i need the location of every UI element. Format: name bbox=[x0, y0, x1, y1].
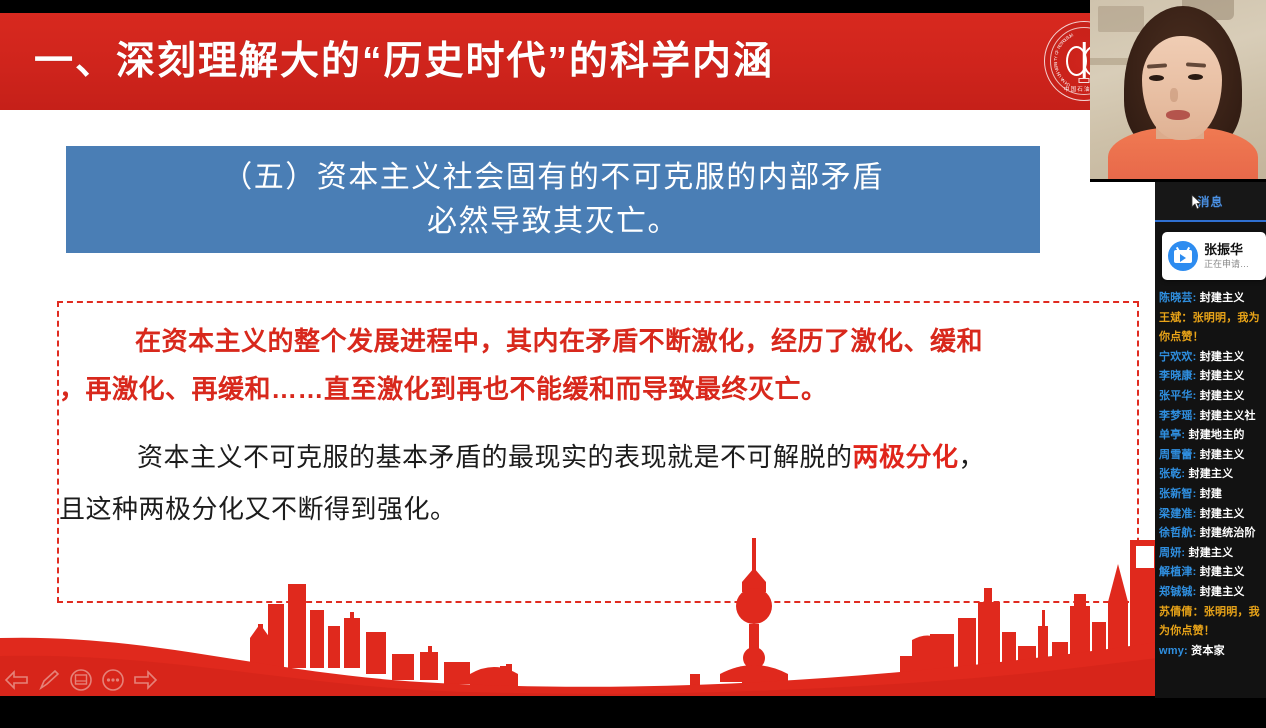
chat-message-author: 为你点赞！ bbox=[1159, 625, 1215, 637]
skyline-decoration bbox=[0, 506, 1158, 696]
chat-message-author: 你点赞！ bbox=[1159, 331, 1204, 343]
display-view-icon[interactable] bbox=[66, 666, 96, 694]
chat-message-text: 封建主义 bbox=[1185, 547, 1233, 559]
presenter-mouth bbox=[1166, 110, 1190, 120]
chat-message-author: 陈晓芸: bbox=[1159, 292, 1196, 304]
chat-message-text: 资本家 bbox=[1188, 645, 1225, 657]
presenter-nose bbox=[1170, 88, 1178, 102]
chat-message-author: 解植津: bbox=[1159, 566, 1196, 578]
chat-message: 宁欢欢: 封建主义 bbox=[1159, 348, 1262, 368]
chat-message: 李晓康: 封建主义 bbox=[1159, 367, 1262, 387]
chat-message: 郑铖铖: 封建主义 bbox=[1159, 583, 1262, 603]
more-options-icon[interactable] bbox=[98, 666, 128, 694]
chat-message-author: 梁建准: bbox=[1159, 508, 1196, 520]
chat-message: 张新智: 封建 bbox=[1159, 485, 1262, 505]
paragraph-one-line-1: 在资本主义的整个发展进程中，其内在矛盾不断激化，经历了激化、缓和 bbox=[59, 317, 1137, 365]
presenter-webcam-video[interactable] bbox=[1090, 0, 1266, 182]
notice-user-name: 张振华 bbox=[1204, 242, 1260, 258]
paragraph-two-line-1: 资本主义不可克服的基本矛盾的最现实的表现就是不可解脱的两极分化， bbox=[59, 431, 1137, 483]
chat-message-list[interactable]: 陈晓芸: 封建主义王斌：张明明，我为你点赞！宁欢欢: 封建主义李晓康: 封建主义… bbox=[1155, 286, 1266, 698]
chat-message: 单亭: 封建地主的 bbox=[1159, 426, 1262, 446]
chat-message-author: 周妍: bbox=[1159, 547, 1185, 559]
chat-message-author: 徐哲航: bbox=[1159, 527, 1196, 539]
chat-message: 徐哲航: 封建统治阶 bbox=[1159, 524, 1262, 544]
chat-message-author: wmy: bbox=[1159, 645, 1188, 657]
pen-icon[interactable] bbox=[34, 666, 64, 694]
chat-message-text: 封建主义 bbox=[1196, 390, 1244, 402]
chat-message: 李梦瑶: 封建主义社 bbox=[1159, 407, 1262, 427]
chat-message-text: 封建主义 bbox=[1196, 586, 1244, 598]
chat-message: 周雪蕾: 封建主义 bbox=[1159, 446, 1262, 466]
chat-message-text: 封建主义 bbox=[1196, 370, 1244, 382]
chat-message-text: 封建主义社 bbox=[1196, 410, 1255, 422]
paragraph-one-line-2: ，再激化、再缓和……直至激化到再也不能缓和而导致最终灭亡。 bbox=[59, 365, 1137, 413]
chat-message: 张乾: 封建主义 bbox=[1159, 465, 1262, 485]
chat-message-author: 周雪蕾: bbox=[1159, 449, 1196, 461]
mouse-cursor-icon bbox=[1191, 194, 1203, 210]
page-title: 一、深刻理解大的“历史时代”的科学内涵 bbox=[34, 39, 774, 85]
chat-message-text: 封建主义 bbox=[1196, 351, 1244, 363]
slide-title-band: 一、深刻理解大的“历史时代”的科学内涵 中国石油大学 CHINA UNIVERS… bbox=[0, 13, 1158, 110]
paragraph-two-highlight: 两极分化 bbox=[853, 442, 959, 472]
previous-slide-icon[interactable] bbox=[2, 666, 32, 694]
chat-message-text: 封建统治阶 bbox=[1196, 527, 1255, 539]
chat-message: 你点赞！ bbox=[1159, 328, 1262, 348]
presenter-eye-left bbox=[1149, 75, 1164, 81]
slideshow-control-bar[interactable] bbox=[2, 666, 160, 694]
chat-message-text: 封建主义 bbox=[1185, 468, 1233, 480]
chat-message-author: 张乾: bbox=[1159, 468, 1185, 480]
screen-root: 一、深刻理解大的“历史时代”的科学内涵 中国石油大学 CHINA UNIVERS… bbox=[0, 0, 1266, 728]
join-request-notice[interactable]: 张振华 正在申请… bbox=[1162, 232, 1266, 280]
chat-message: wmy: 资本家 bbox=[1159, 642, 1262, 662]
chat-message: 张平华: 封建主义 bbox=[1159, 387, 1262, 407]
subtitle-line-2: 必然导致其灭亡。 bbox=[427, 200, 679, 244]
presenter-eye-right bbox=[1188, 74, 1203, 80]
chat-message: 周妍: 封建主义 bbox=[1159, 544, 1262, 564]
chat-tab-bar[interactable]: 消息 bbox=[1155, 182, 1266, 222]
chat-message-text: 封建主义 bbox=[1196, 508, 1244, 520]
chat-message: 王斌：张明明，我为 bbox=[1159, 309, 1262, 329]
chat-message-text: 封建主义 bbox=[1196, 292, 1244, 304]
chat-message-text: 封建主义 bbox=[1196, 449, 1244, 461]
chat-panel[interactable]: 消息 张振华 正在申请… 陈晓芸: 封建主义王斌：张明明，我为你点赞！宁欢欢: … bbox=[1155, 182, 1266, 698]
chat-message-author: 苏倩倩：张明明，我 bbox=[1159, 606, 1260, 618]
chat-message-author: 郑铖铖: bbox=[1159, 586, 1196, 598]
chat-message: 苏倩倩：张明明，我 bbox=[1159, 603, 1262, 623]
chat-message-author: 李梦瑶: bbox=[1159, 410, 1196, 422]
chat-message: 解植津: 封建主义 bbox=[1159, 563, 1262, 583]
chat-message-text: 封建 bbox=[1196, 488, 1222, 500]
next-slide-icon[interactable] bbox=[130, 666, 160, 694]
chat-message: 梁建准: 封建主义 bbox=[1159, 505, 1262, 525]
paragraph-two-text-before: 资本主义不可克服的基本矛盾的最现实的表现就是不可解脱的 bbox=[137, 442, 853, 472]
chat-message-author: 宁欢欢: bbox=[1159, 351, 1196, 363]
slide-subtitle-banner: （五）资本主义社会固有的不可克服的内部矛盾 必然导致其灭亡。 bbox=[66, 146, 1040, 253]
chat-message: 为你点赞！ bbox=[1159, 622, 1262, 642]
paragraph-two-text-after: ， bbox=[959, 442, 986, 472]
subtitle-line-1: （五）资本主义社会固有的不可克服的内部矛盾 bbox=[222, 156, 884, 200]
chat-message-author: 张新智: bbox=[1159, 488, 1196, 500]
chat-message-text: 封建地主的 bbox=[1185, 429, 1244, 441]
chat-message-author: 张平华: bbox=[1159, 390, 1196, 402]
chat-message-author: 李晓康: bbox=[1159, 370, 1196, 382]
paragraph-one: 在资本主义的整个发展进程中，其内在矛盾不断激化，经历了激化、缓和 ，再激化、再缓… bbox=[59, 317, 1137, 413]
chat-message-author: 王斌：张明明，我为 bbox=[1159, 312, 1260, 324]
chat-message: 陈晓芸: 封建主义 bbox=[1159, 289, 1262, 309]
presentation-slide[interactable]: 一、深刻理解大的“历史时代”的科学内涵 中国石油大学 CHINA UNIVERS… bbox=[0, 13, 1158, 696]
video-request-icon bbox=[1168, 241, 1198, 271]
webcam-wall-art bbox=[1098, 6, 1144, 32]
notice-status: 正在申请… bbox=[1204, 258, 1260, 271]
chat-message-text: 封建主义 bbox=[1196, 566, 1244, 578]
chat-message-author: 单亭: bbox=[1159, 429, 1185, 441]
